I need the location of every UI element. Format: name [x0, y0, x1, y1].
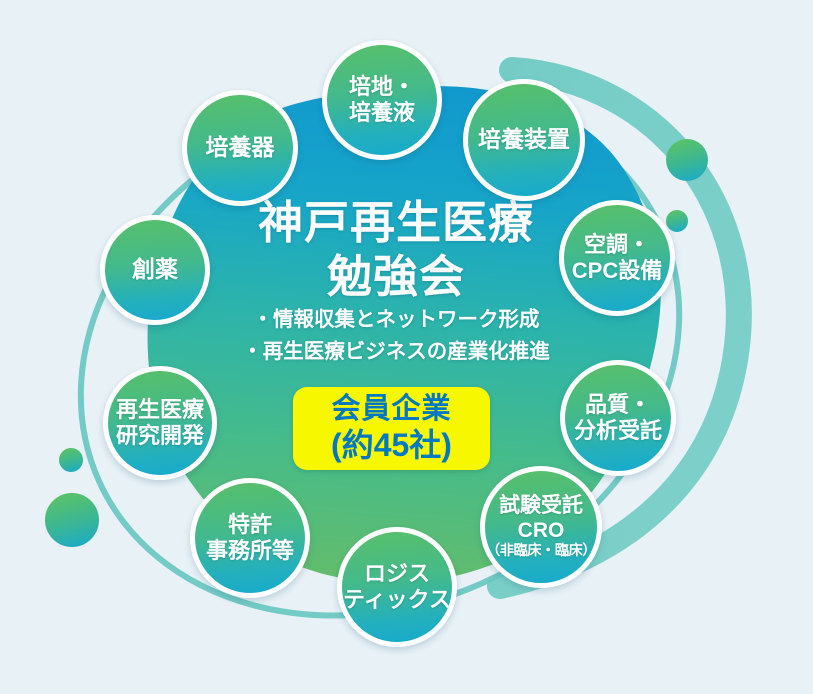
bubble-kuchou-cpc[interactable]: 空調・ CPC設備	[559, 200, 675, 316]
bubble-tokkyo-jimusho[interactable]: 特許 事務所等	[190, 478, 310, 598]
bubble-label-line: CRO	[518, 519, 565, 544]
dot-left-large-icon	[45, 493, 99, 547]
core-bullet-1: ・情報収集とネットワーク形成	[186, 304, 606, 336]
bubble-logistics[interactable]: ロジス ティックス	[337, 527, 457, 647]
bubble-label-sublabel: （非臨床・臨床）	[486, 543, 596, 560]
core-bullet-2: ・再生医療ビジネスの産業化推進	[186, 336, 606, 368]
core-title-line2: 勉強会	[206, 250, 586, 304]
core-title-line1: 神戸再生医療	[206, 196, 586, 250]
bubble-label-line: 創薬	[132, 256, 178, 283]
bubble-baichi-baiyoueki[interactable]: 培地・ 培養液	[322, 40, 442, 160]
bubble-label-line: 分析受託	[574, 418, 662, 444]
member-companies-badge: 会員企業 (約45社)	[293, 387, 490, 470]
bubble-label-line: 試験受託	[499, 494, 583, 519]
bubble-baiyouki[interactable]: 培養器	[182, 90, 298, 206]
bubble-label-line: 事務所等	[206, 538, 294, 564]
bubble-hinshitsu-bunseki[interactable]: 品質・ 分析受託	[560, 360, 676, 476]
bubble-label-line: 特許	[228, 512, 272, 538]
bubble-label-line: 培地・	[349, 74, 415, 100]
bubble-label-line: ロジス	[364, 561, 430, 587]
dot-top-right-icon	[666, 139, 708, 181]
bubble-souyaku[interactable]: 創薬	[100, 215, 210, 325]
badge-line1: 会員企業	[331, 393, 451, 425]
page-title: 神戸再生医療 勉強会	[206, 196, 586, 304]
bubble-baiyou-souchi[interactable]: 培養装置	[463, 79, 585, 201]
bubble-label-line: 培養器	[206, 134, 275, 161]
dot-right-small-icon	[666, 210, 688, 232]
bubble-label-line: 研究開発	[116, 423, 204, 449]
bubble-saisei-kenkyu[interactable]: 再生医療 研究開発	[103, 366, 217, 480]
bubble-label-line: ティックス	[343, 587, 451, 613]
bubble-label-line: 再生医療	[116, 397, 204, 423]
bubble-label-line: 品質・	[585, 392, 651, 418]
bubble-shiken-jutaku-cro[interactable]: 試験受託 CRO （非臨床・臨床）	[480, 466, 602, 588]
bubble-label-line: 空調・	[584, 232, 650, 258]
bubble-label-line: CPC設備	[572, 258, 662, 284]
bubble-label-line: 培養液	[349, 100, 415, 126]
bubble-label-line: 培養装置	[478, 126, 570, 153]
dot-left-small-icon	[59, 448, 83, 472]
core-bullet-list: ・情報収集とネットワーク形成 ・再生医療ビジネスの産業化推進	[186, 304, 606, 368]
badge-line2: (約45社)	[331, 428, 452, 464]
infographic-canvas: 神戸再生医療 勉強会 ・情報収集とネットワーク形成 ・再生医療ビジネスの産業化推…	[0, 0, 813, 694]
